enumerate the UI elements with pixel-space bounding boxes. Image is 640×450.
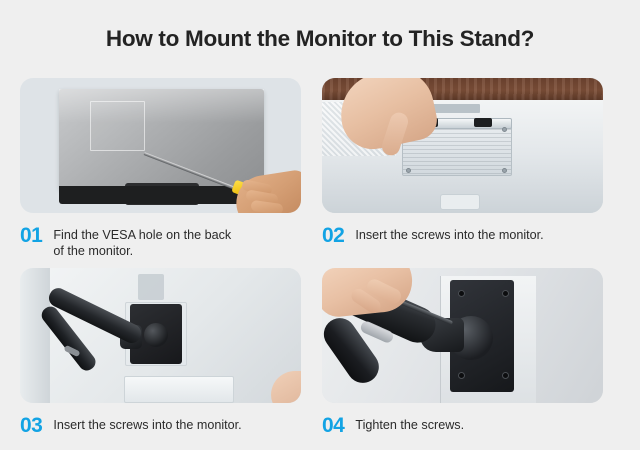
step-number-04: 04 [322,415,344,437]
screw-hole [502,372,509,379]
screw-hole [458,290,465,297]
step-text-03: Insert the screws into the monitor. [53,415,241,433]
monitor-foot [440,194,480,210]
step-number-01: 01 [20,225,42,247]
ball-joint [144,323,168,347]
screw-hole [406,168,411,173]
step-caption-03: 03 Insert the screws into the monitor. [20,415,301,437]
product-label [432,104,480,113]
step-photo-02 [322,78,603,213]
screw-hole [502,290,509,297]
screw-hole [502,168,507,173]
step-caption-02: 02 Insert the screws into the monitor. [322,225,603,247]
page-title: How to Mount the Monitor to This Stand? [0,26,640,52]
step-number-02: 02 [322,225,344,247]
step-caption-04: 04 Tighten the screws. [322,415,603,437]
vesa-hole-outline [90,101,145,151]
step-photo-03 [20,268,301,403]
port-cover [138,274,164,300]
screw [474,118,492,127]
step-card-02: 02 Insert the screws into the monitor. [322,78,603,247]
step-photo-04 [322,268,603,403]
step-card-01: 01 Find the VESA hole on the back of the… [20,78,301,259]
step-text-04: Tighten the screws. [355,415,464,433]
screw-hole [458,372,465,379]
step-card-04: 04 Tighten the screws. [322,268,603,437]
instruction-page: How to Mount the Monitor to This Stand? … [0,0,640,450]
step-text-01: Find the VESA hole on the back of the mo… [53,225,238,259]
label-panel [124,376,234,403]
step-text-02: Insert the screws into the monitor. [355,225,543,243]
screw-hole [502,127,507,132]
step-photo-01 [20,78,301,213]
step-number-03: 03 [20,415,42,437]
step-caption-01: 01 Find the VESA hole on the back of the… [20,225,301,259]
monitor-edge [20,268,50,403]
step-card-03: 03 Insert the screws into the monitor. [20,268,301,437]
